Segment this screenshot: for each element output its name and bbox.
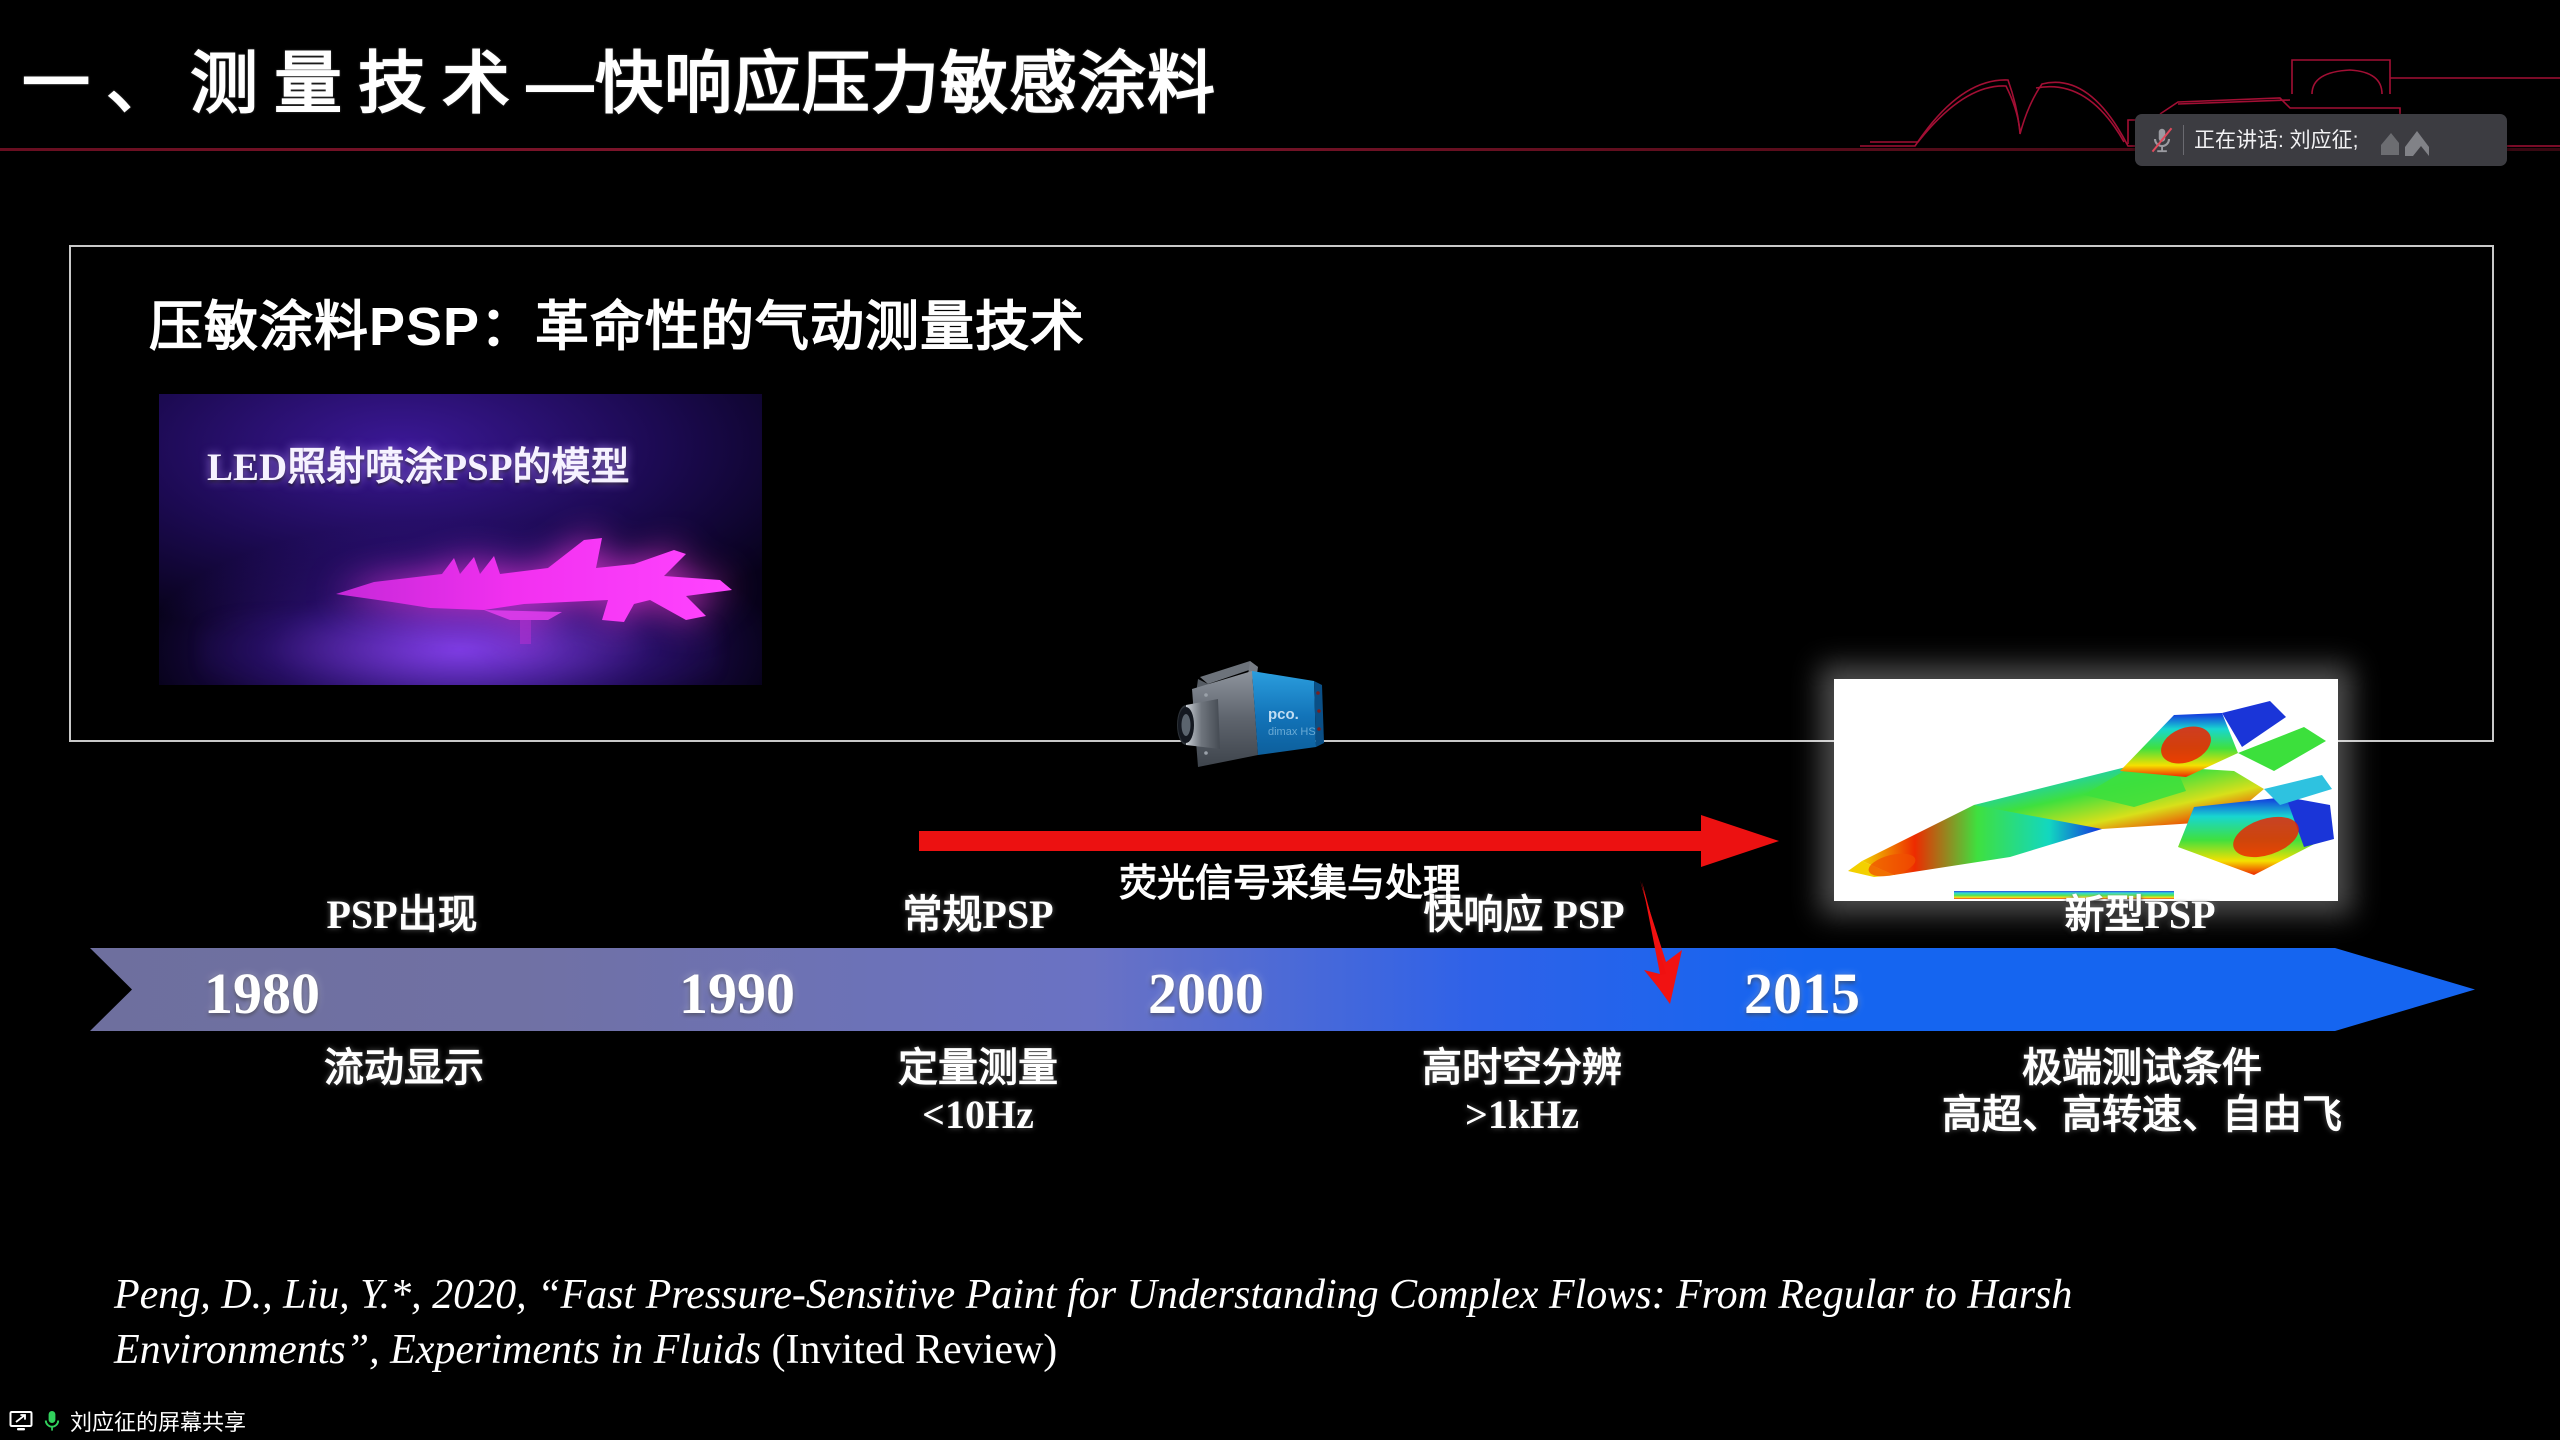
citation-line-2: Environments”, Experiments in Fluids (In…: [114, 1323, 2444, 1378]
screen-share-icon[interactable]: [8, 1409, 34, 1433]
page-title-dash: —: [526, 46, 595, 122]
timeline-arrow-bar: [90, 948, 2475, 1031]
magenta-jet-silhouette: [334, 534, 734, 644]
timeline-bottom-label-0: 流动显示: [324, 1045, 484, 1090]
microphone-icon[interactable]: [42, 1409, 62, 1433]
timeline-bottom-label-2: 高时空分辨: [1422, 1045, 1622, 1090]
svg-text:dimax HS: dimax HS: [1268, 726, 1316, 738]
timeline-bottom-1: 定量测量 <10Hz: [898, 1044, 1058, 1138]
high-speed-camera-image: pco. dimax HS: [1146, 655, 1366, 785]
timeline-bottom-sub-1: <10Hz: [898, 1091, 1058, 1138]
led-photo-caption: LED照射喷涂PSP的模型: [207, 436, 630, 492]
timeline-year-2: 2000: [1148, 960, 1264, 1027]
led-illuminated-psp-model-photo: LED照射喷涂PSP的模型: [159, 394, 762, 685]
audio-wave-icon: [2377, 123, 2443, 157]
timeline-year-0: 1980: [204, 960, 320, 1027]
timeline-bottom-0: 流动显示: [324, 1044, 484, 1091]
active-speaker-label: 正在讲话: 刘应征;: [2194, 130, 2359, 151]
badge-divider: [2183, 125, 2184, 155]
svg-text:pco.: pco.: [1268, 706, 1299, 723]
timeline-bottom-3: 极端测试条件 高超、高转速、自由飞: [1942, 1044, 2342, 1138]
citation-line-1: Peng, D., Liu, Y.*, 2020, “Fast Pressure…: [114, 1268, 2444, 1323]
timeline-top-label-1: 常规PSP: [902, 882, 1053, 940]
timeline-bottom-label-3: 极端测试条件: [2022, 1045, 2262, 1090]
timeline-year-1: 1990: [679, 960, 795, 1027]
timeline-bottom-sub-3: 高超、高转速、自由飞: [1942, 1091, 2342, 1138]
timeline-top-label-0: PSP出现: [326, 882, 477, 940]
screen-share-label: 刘应征的屏幕共享: [70, 1405, 246, 1437]
psp-content-panel: 压敏涂料PSP：革命性的气动测量技术 LED照射喷涂PSP的模型: [69, 245, 2494, 742]
timeline-bottom-2: 高时空分辨 >1kHz: [1422, 1044, 1622, 1138]
active-speaker-badge[interactable]: 正在讲话: 刘应征;: [2135, 114, 2507, 166]
timeline-top-label-2: 快响应 PSP: [1423, 882, 1624, 940]
timeline-year-3: 2015: [1744, 960, 1860, 1027]
screen-share-viewport: 一、测量技术—快响应压力敏感涂料 正在讲话: 刘应征; 压敏涂料PSP：革命性的…: [0, 0, 2560, 1440]
screen-share-status-bar: 刘应征的屏幕共享: [0, 1402, 2560, 1440]
timeline-top-label-3: 新型PSP: [2064, 882, 2215, 940]
reference-citation: Peng, D., Liu, Y.*, 2020, “Fast Pressure…: [114, 1268, 2444, 1379]
panel-heading: 压敏涂料PSP：革命性的气动测量技术: [149, 282, 1085, 361]
psp-development-timeline: PSP出现 1980 流动显示 常规PSP 1990 定量测量 <10Hz 快响…: [0, 860, 2560, 1200]
citation-line-2-plain: (Invited Review): [772, 1327, 1058, 1373]
timeline-bottom-sub-2: >1kHz: [1422, 1091, 1622, 1138]
page-title-prefix: 一、测量技术: [22, 46, 526, 122]
fast-psp-pointer-arrow: [1636, 878, 1706, 1008]
timeline-bottom-label-1: 定量测量: [898, 1045, 1058, 1090]
microphone-muted-icon: [2145, 123, 2179, 157]
page-title: 一、测量技术—快响应压力敏感涂料: [22, 28, 1216, 127]
page-title-main: 快响应压力敏感涂料: [595, 46, 1216, 122]
citation-line-2-italic: Environments”, Experiments in Fluids: [114, 1327, 761, 1373]
